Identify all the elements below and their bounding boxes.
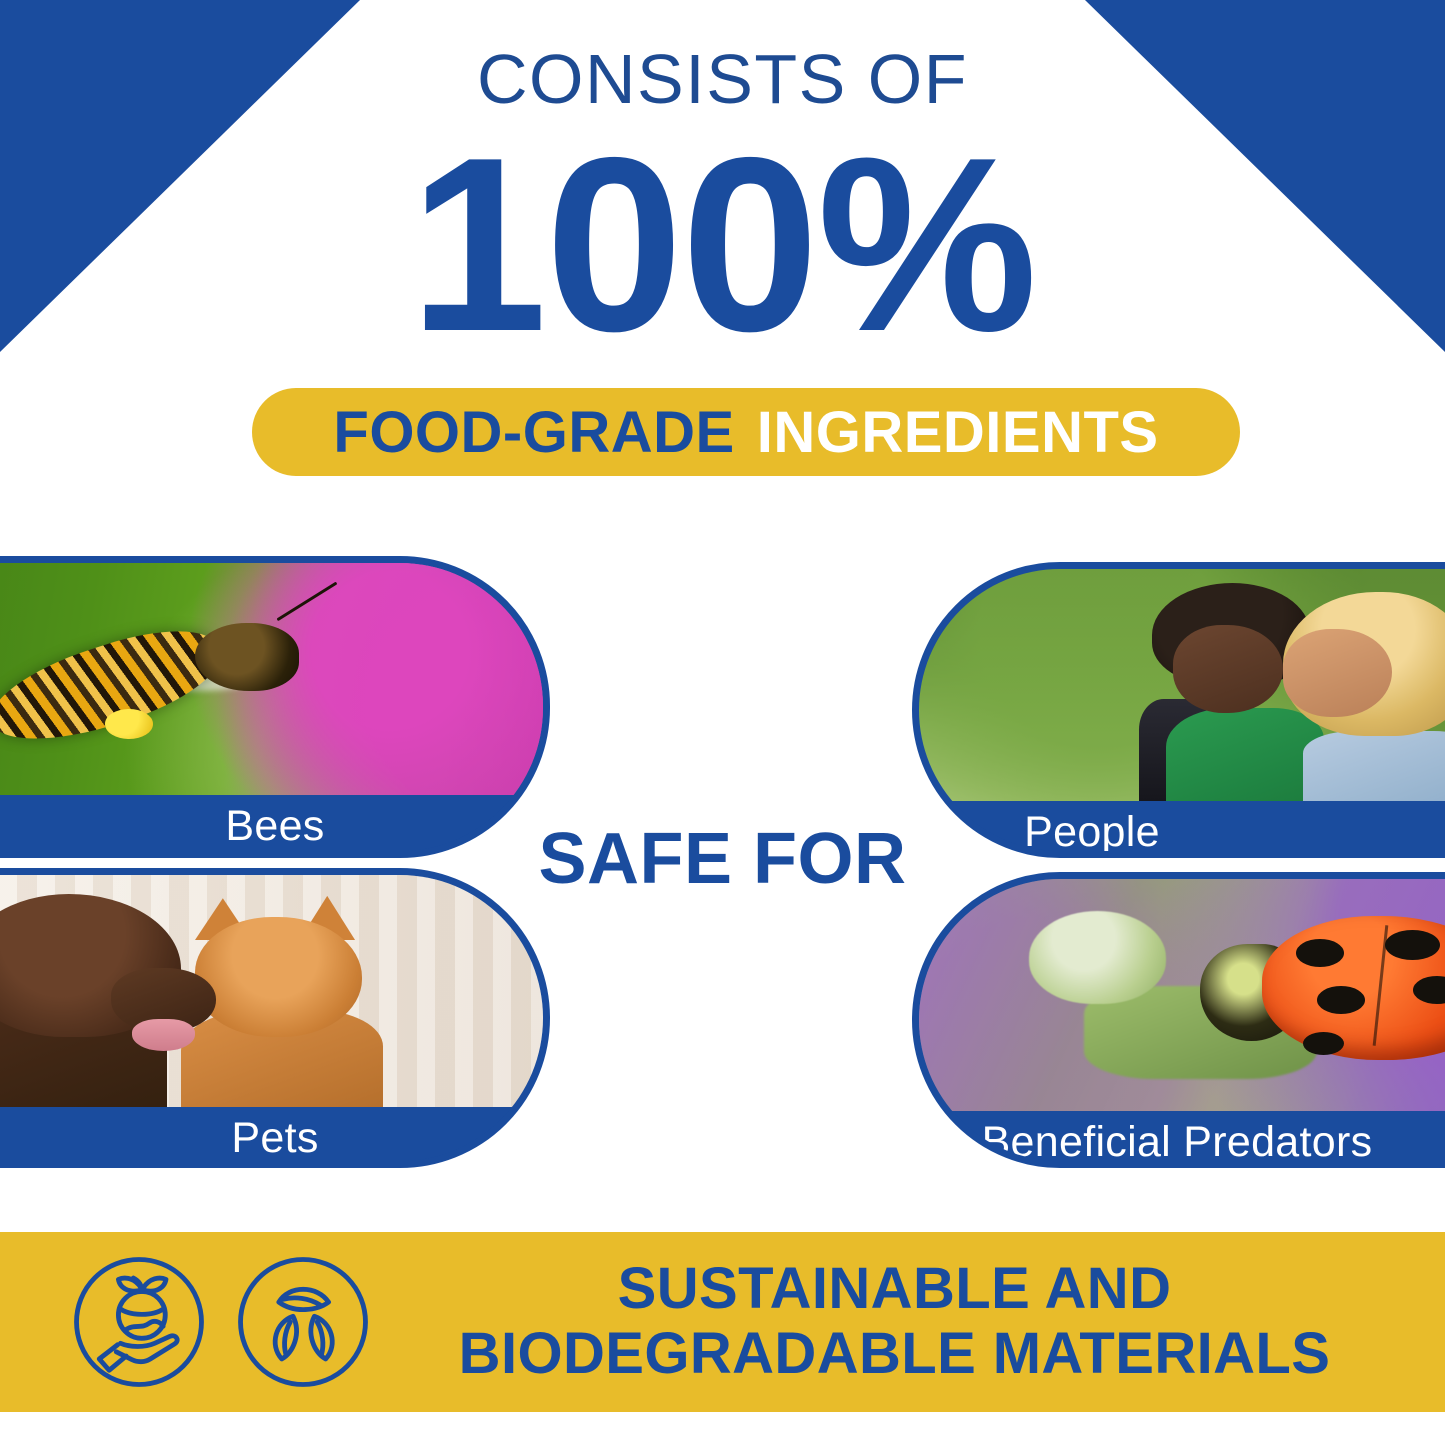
bee-antenna-shape	[276, 582, 337, 621]
person-first-face-shape	[1173, 625, 1283, 713]
people-photo	[919, 569, 1445, 801]
beneficial-predators-photo	[919, 879, 1445, 1111]
ladybug-photo-art	[919, 879, 1445, 1111]
infographic-page: CONSISTS OF 100% FOOD-GRADE INGREDIENTS …	[0, 0, 1445, 1445]
card-label-pets: Pets	[0, 1107, 543, 1168]
safe-for-card-bees: Bees	[0, 556, 550, 858]
headline-kicker: CONSISTS OF	[0, 44, 1445, 114]
safe-for-card-people: People	[912, 562, 1445, 858]
safe-for-label: SAFE FOR	[0, 818, 1445, 900]
banner-line-1: SUSTAINABLE AND	[374, 1257, 1415, 1322]
bee-head-shape	[195, 623, 299, 690]
pill-text-ingredients: INGREDIENTS	[757, 399, 1159, 466]
headline-big-number: 100%	[0, 130, 1445, 358]
pets-photo	[0, 875, 543, 1107]
banner-headline: SUSTAINABLE AND BIODEGRADABLE MATERIALS	[374, 1257, 1445, 1387]
pill-text-food-grade: FOOD-GRADE	[333, 399, 734, 466]
safe-for-card-pets: Pets	[0, 868, 550, 1168]
recycling-leaves-icon	[232, 1251, 374, 1393]
people-photo-art	[919, 569, 1445, 801]
pets-photo-art	[0, 875, 543, 1107]
food-grade-ingredients-pill: FOOD-GRADE INGREDIENTS	[252, 388, 1240, 476]
banner-line-2: BIODEGRADABLE MATERIALS	[374, 1322, 1415, 1387]
bees-photo-art	[0, 563, 543, 795]
sustainability-banner: SUSTAINABLE AND BIODEGRADABLE MATERIALS	[0, 1232, 1445, 1412]
headline-block: CONSISTS OF 100%	[0, 0, 1445, 358]
ladybug-spot	[1317, 986, 1365, 1014]
person-green-top-shape	[1166, 708, 1324, 801]
bee-pollen-sac-shape	[105, 709, 154, 739]
card-label-beneficial-predators: Beneficial Predators	[919, 1111, 1445, 1168]
bees-photo	[0, 563, 543, 795]
person-denim-jacket-shape	[1303, 731, 1445, 801]
hand-holding-globe-sprout-icon	[68, 1251, 210, 1393]
flower-bud-shape	[1029, 911, 1166, 1004]
cat-head-shape	[195, 917, 362, 1038]
bee-body-shape	[0, 612, 229, 760]
banner-icon-group	[68, 1251, 374, 1393]
safe-for-card-beneficial-predators: Beneficial Predators	[912, 872, 1445, 1168]
